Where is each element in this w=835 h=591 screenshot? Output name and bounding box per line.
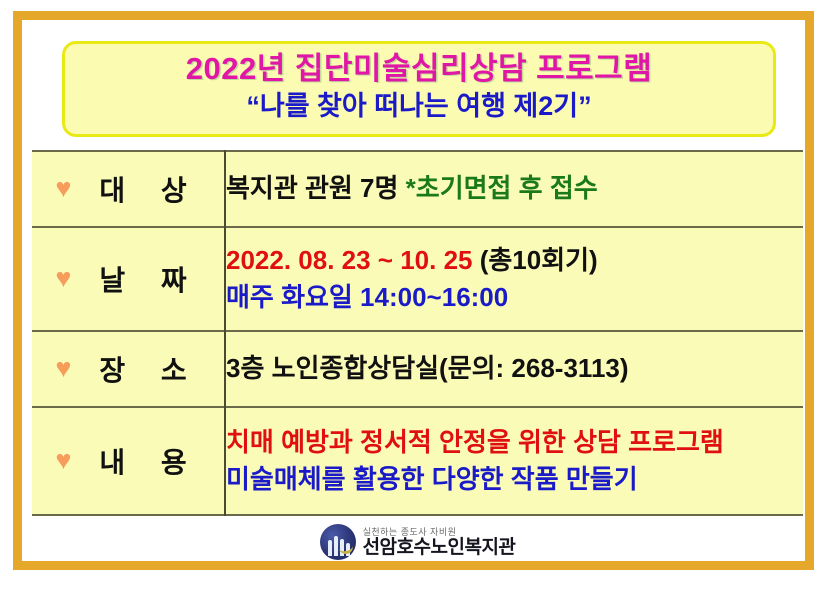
- table-body: ♥ 대 상 복지관 관원 7명 *초기면접 후 접수 ♥ 날 짜: [32, 151, 803, 515]
- organization-tagline: 실천하는 종도사 자비원: [363, 528, 516, 537]
- row-label-cell: ♥ 날 짜: [32, 227, 225, 331]
- row-value-cell: 치매 예방과 정서적 안정을 위한 상담 프로그램 미술매체를 활용한 다양한 …: [225, 407, 803, 515]
- organization-logo-icon: [320, 524, 356, 560]
- value-segment: 미술매체를 활용한 다양한 작품 만들기: [226, 464, 638, 494]
- row-label-text: 장 소: [85, 349, 200, 389]
- value-segment-accent: 2022. 08. 23 ~ 10. 25: [226, 245, 480, 275]
- row-value-cell: 3층 노인종합상담실(문의: 268-3113): [225, 331, 803, 407]
- value-line: 2022. 08. 23 ~ 10. 25 (총10회기): [226, 243, 803, 278]
- label-inner: ♥ 장 소: [32, 349, 224, 389]
- table-row: ♥ 장 소 3층 노인종합상담실(문의: 268-3113): [32, 331, 803, 407]
- row-label-text: 내 용: [85, 441, 200, 481]
- heart-icon: ♥: [55, 447, 71, 474]
- row-value-cell: 복지관 관원 7명 *초기면접 후 접수: [225, 151, 803, 227]
- label-inner: ♥ 날 짜: [32, 259, 224, 299]
- value-line: 복지관 관원 7명 *초기면접 후 접수: [226, 171, 803, 206]
- heart-icon: ♥: [55, 265, 71, 292]
- poster-canvas: 2022년 집단미술심리상담 프로그램 “나를 찾아 떠나는 여행 제2기” ♥…: [0, 0, 835, 591]
- value-line: 매주 화요일 14:00~16:00: [226, 280, 803, 315]
- heart-icon: ♥: [55, 355, 71, 382]
- row-label-cell: ♥ 내 용: [32, 407, 225, 515]
- row-label-cell: ♥ 장 소: [32, 331, 225, 407]
- value-segment: 복지관 관원 7명: [226, 173, 406, 203]
- value-line: 3층 노인종합상담실(문의: 268-3113): [226, 351, 803, 386]
- value-line: 치매 예방과 정서적 안정을 위한 상담 프로그램: [226, 425, 803, 460]
- value-segment: 매주 화요일 14:00~16:00: [226, 282, 508, 312]
- table-row: ♥ 내 용 치매 예방과 정서적 안정을 위한 상담 프로그램 미술매체를 활용…: [32, 407, 803, 515]
- row-label-cell: ♥ 대 상: [32, 151, 225, 227]
- value-segment-accent: 치매 예방과 정서적 안정을 위한 상담 프로그램: [226, 427, 724, 457]
- page-subtitle: “나를 찾아 떠나는 여행 제2기”: [65, 88, 773, 122]
- value-line: 미술매체를 활용한 다양한 작품 만들기: [226, 462, 803, 497]
- row-label-text: 날 짜: [85, 259, 200, 299]
- footer-logo: 실천하는 종도사 자비원 선암호수노인복지관: [0, 524, 835, 560]
- value-segment-accent: *초기면접 후 접수: [406, 173, 598, 203]
- heart-icon: ♥: [55, 175, 71, 202]
- organization-text: 실천하는 종도사 자비원 선암호수노인복지관: [363, 528, 516, 557]
- organization-name: 선암호수노인복지관: [363, 538, 516, 557]
- value-segment: 3층 노인종합상담실(문의: 268-3113): [226, 353, 629, 383]
- table-row: ♥ 날 짜 2022. 08. 23 ~ 10. 25 (총10회기) 매주 화…: [32, 227, 803, 331]
- label-inner: ♥ 대 상: [32, 169, 224, 209]
- table-row: ♥ 대 상 복지관 관원 7명 *초기면접 후 접수: [32, 151, 803, 227]
- program-info-table: ♥ 대 상 복지관 관원 7명 *초기면접 후 접수 ♥ 날 짜: [32, 150, 803, 516]
- logo-figure: [328, 540, 332, 556]
- label-inner: ♥ 내 용: [32, 441, 224, 481]
- logo-figure: [334, 536, 338, 556]
- value-segment: (총10회기): [480, 245, 598, 275]
- row-label-text: 대 상: [85, 169, 200, 209]
- row-value-cell: 2022. 08. 23 ~ 10. 25 (총10회기) 매주 화요일 14:…: [225, 227, 803, 331]
- page-title: 2022년 집단미술심리상담 프로그램: [65, 44, 773, 88]
- header-banner: 2022년 집단미술심리상담 프로그램 “나를 찾아 떠나는 여행 제2기”: [62, 41, 776, 137]
